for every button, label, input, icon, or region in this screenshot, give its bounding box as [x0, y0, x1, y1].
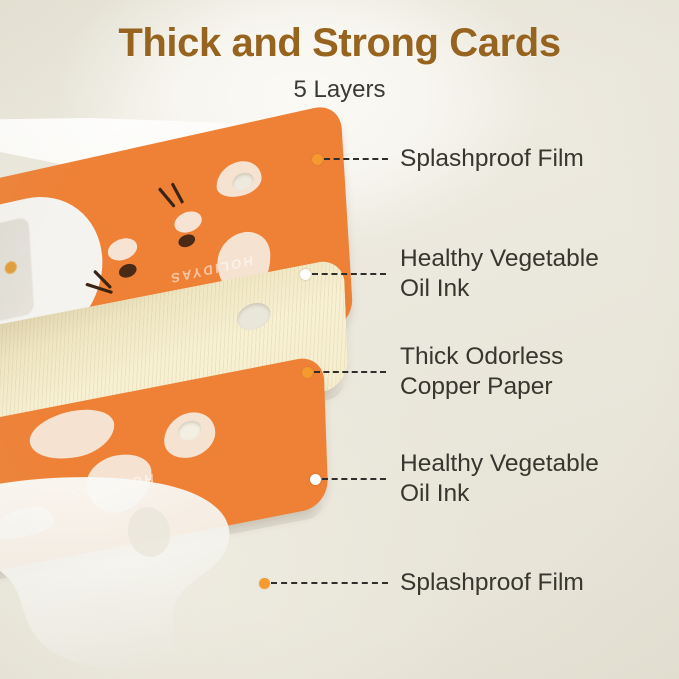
callout-healthy-vegetable-oil-ink-bottom: Healthy Vegetable Oil Ink: [310, 449, 599, 509]
callout-label: Thick Odorless Copper Paper: [400, 342, 563, 402]
callout-dot-icon: [312, 154, 323, 165]
page-subtitle: 5 Layers: [0, 76, 679, 104]
whisker-3: [158, 187, 176, 208]
callout-label: Splashproof Film: [400, 568, 584, 598]
callout-dashed-line: [322, 478, 386, 480]
callout-label: Splashproof Film: [400, 144, 584, 174]
callout-dashed-line: [324, 158, 388, 160]
copper-punch-hole: [237, 300, 271, 333]
callout-dot-icon: [310, 474, 321, 485]
whisker-4: [171, 182, 184, 204]
cat-eye-left: [119, 262, 137, 279]
cat-cheek-right: [174, 209, 203, 235]
callout-splashproof-film-bottom: Splashproof Film: [259, 568, 584, 598]
infographic-root: HOLIDYAS HOLIDYAS: [0, 0, 679, 679]
cat-blob-b1: [29, 403, 115, 466]
callout-dashed-line: [312, 273, 386, 275]
callout-label: Healthy Vegetable Oil Ink: [400, 449, 599, 509]
callout-dot-icon: [300, 269, 311, 280]
cat-eye-right: [178, 233, 195, 249]
callout-label: Healthy Vegetable Oil Ink: [400, 244, 599, 304]
callout-dashed-line: [271, 582, 388, 584]
cat-cheek-left: [107, 236, 138, 264]
callout-dashed-line: [314, 371, 386, 373]
page-title: Thick and Strong Cards: [0, 21, 679, 66]
callout-healthy-vegetable-oil-ink-top: Healthy Vegetable Oil Ink: [300, 244, 599, 304]
callout-dot-icon: [259, 578, 270, 589]
callout-splashproof-film-top: Splashproof Film: [312, 144, 584, 174]
callout-dot-icon: [302, 367, 313, 378]
callout-thick-odorless-copper-paper: Thick Odorless Copper Paper: [302, 342, 563, 402]
